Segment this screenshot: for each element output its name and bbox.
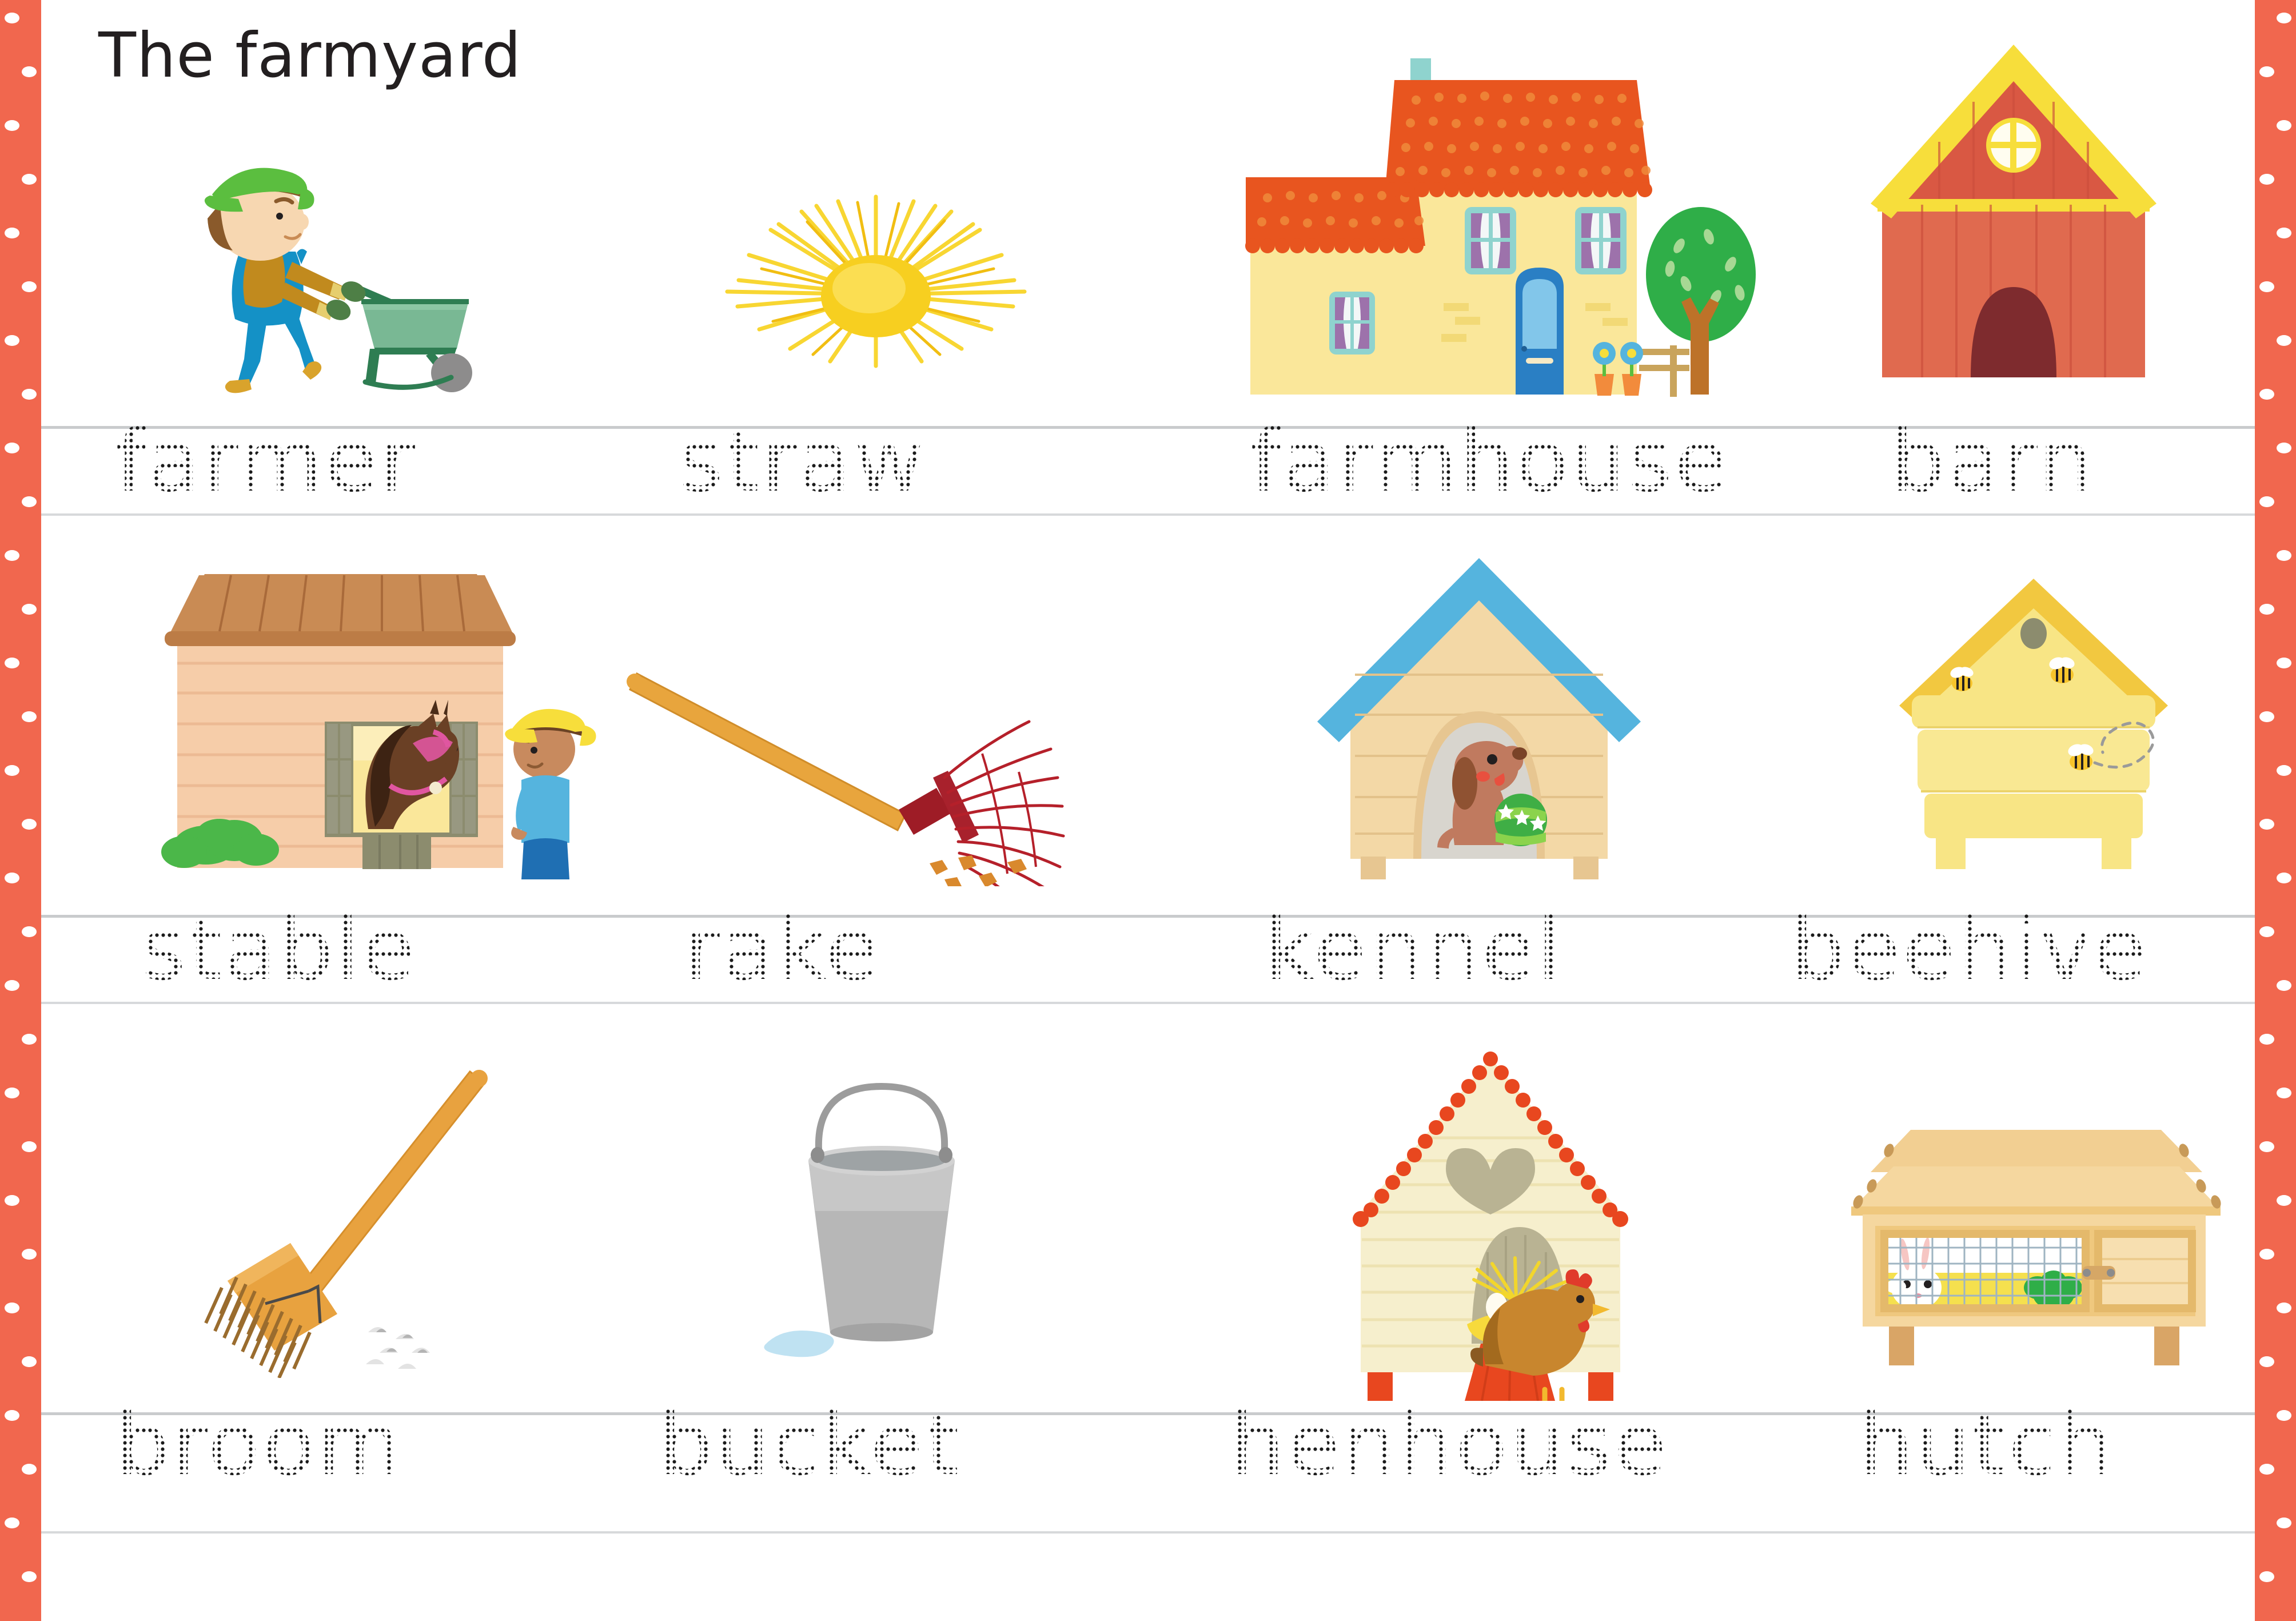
border-dot: [22, 711, 37, 722]
trace-word-beehive[interactable]: beehive: [1791, 907, 2148, 993]
border-dot: [22, 1571, 37, 1582]
border-dot: [2259, 1034, 2274, 1045]
left-border-band: [0, 0, 41, 1621]
border-dot: [2259, 604, 2274, 615]
picture-henhouse-with-hen: [1293, 1023, 1688, 1401]
border-dot: [22, 281, 37, 292]
page-title: The farmyard: [98, 20, 521, 91]
border-dot: [2259, 711, 2274, 722]
trace-word-kennel[interactable]: kennel: [1265, 907, 1563, 993]
picture-yard-broom: [156, 1035, 556, 1378]
trace-word-hutch[interactable]: hutch: [1859, 1402, 2115, 1488]
border-dot: [2277, 1088, 2291, 1098]
border-dot: [2259, 1141, 2274, 1152]
border-dot: [2277, 873, 2291, 883]
border-dot: [2259, 1356, 2274, 1367]
border-dot: [5, 873, 19, 883]
picture-red-barn: [1836, 10, 2191, 393]
guide-line-row3-bottom: [41, 1531, 2255, 1534]
border-dot: [22, 1356, 37, 1367]
border-dot: [2277, 550, 2291, 561]
border-dot: [2259, 66, 2274, 77]
border-dot: [22, 174, 37, 185]
picture-straw-bale: [716, 194, 1036, 383]
border-dot: [5, 765, 19, 776]
border-dot: [5, 550, 19, 561]
picture-stable-with-horse: [144, 560, 619, 881]
border-dot: [2259, 1249, 2274, 1260]
trace-word-rake[interactable]: rake: [684, 907, 880, 993]
border-dot: [22, 926, 37, 937]
guide-line-row1-bottom: [41, 513, 2255, 516]
border-dot: [22, 1464, 37, 1475]
trace-word-straw[interactable]: straw: [679, 419, 926, 504]
border-dot: [2259, 1464, 2274, 1475]
border-dot: [22, 1249, 37, 1260]
border-dot: [22, 389, 37, 400]
trace-word-henhouse[interactable]: henhouse: [1230, 1402, 1669, 1488]
border-dot: [2277, 443, 2291, 453]
picture-rabbit-hutch: [1825, 1098, 2242, 1367]
border-dot: [2259, 281, 2274, 292]
border-dot: [5, 120, 19, 131]
picture-dog-kennel: [1293, 543, 1665, 881]
border-dot: [2259, 819, 2274, 830]
border-dot: [2277, 980, 2291, 991]
border-dot: [5, 13, 19, 23]
trace-word-broom[interactable]: broom: [115, 1402, 403, 1488]
border-dot: [2277, 658, 2291, 668]
border-dot: [2277, 120, 2291, 131]
border-dot: [2277, 1518, 2291, 1528]
picture-yellow-farmhouse: [1245, 6, 1765, 406]
picture-metal-bucket: [744, 1064, 1019, 1378]
worksheet-page: The farmyard: [41, 0, 2255, 1621]
border-dot: [5, 228, 19, 238]
trace-word-barn[interactable]: barn: [1891, 419, 2095, 504]
picture-farmer-with-wheelbarrow: [164, 160, 484, 400]
border-dot: [2259, 389, 2274, 400]
border-dot: [22, 819, 37, 830]
border-dot: [2259, 496, 2274, 507]
border-dot: [5, 335, 19, 346]
trace-word-stable[interactable]: stable: [141, 907, 417, 993]
border-dot: [2277, 1303, 2291, 1313]
right-border-band: [2255, 0, 2296, 1621]
border-dot: [2277, 228, 2291, 238]
border-dot: [22, 604, 37, 615]
guide-line-row2-bottom: [41, 1002, 2255, 1004]
border-dot: [2277, 765, 2291, 776]
border-dot: [5, 658, 19, 668]
border-dot: [22, 1034, 37, 1045]
trace-word-farmhouse[interactable]: farmhouse: [1250, 419, 1729, 504]
border-dot: [5, 443, 19, 453]
border-dot: [2259, 926, 2274, 937]
border-dot: [22, 1141, 37, 1152]
border-dot: [2277, 13, 2291, 23]
picture-garden-rake: [624, 606, 1093, 886]
trace-word-bucket[interactable]: bucket: [659, 1402, 961, 1488]
picture-yellow-beehive: [1871, 566, 2197, 869]
border-dot: [22, 496, 37, 507]
trace-word-farmer[interactable]: farmer: [115, 419, 417, 504]
border-dot: [2277, 1195, 2291, 1206]
border-dot: [2277, 1410, 2291, 1421]
border-dot: [5, 1088, 19, 1098]
border-dot: [2259, 1571, 2274, 1582]
border-dot: [5, 1303, 19, 1313]
border-dot: [5, 1410, 19, 1421]
border-dot: [2277, 335, 2291, 346]
border-dot: [5, 1195, 19, 1206]
border-dot: [5, 1518, 19, 1528]
border-dot: [5, 980, 19, 991]
border-dot: [2259, 174, 2274, 185]
border-dot: [22, 66, 37, 77]
